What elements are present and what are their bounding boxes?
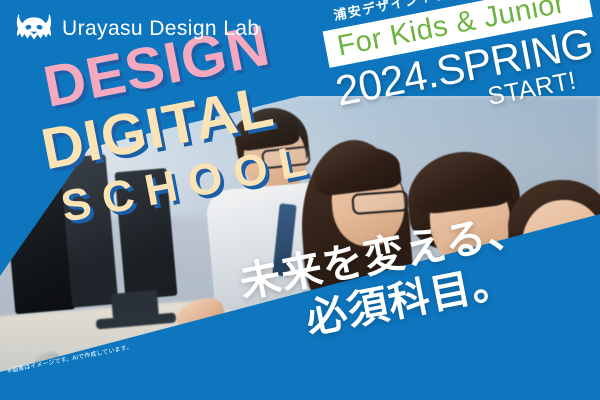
brand-name: Urayasu Design Lab: [62, 17, 259, 41]
brand-logo[interactable]: Urayasu Design Lab: [16, 14, 259, 44]
bat-monster-mascot-icon: [16, 14, 52, 44]
promotional-banner: Urayasu Design Lab DESIGN DIGITAL SCHOOL…: [0, 0, 600, 400]
